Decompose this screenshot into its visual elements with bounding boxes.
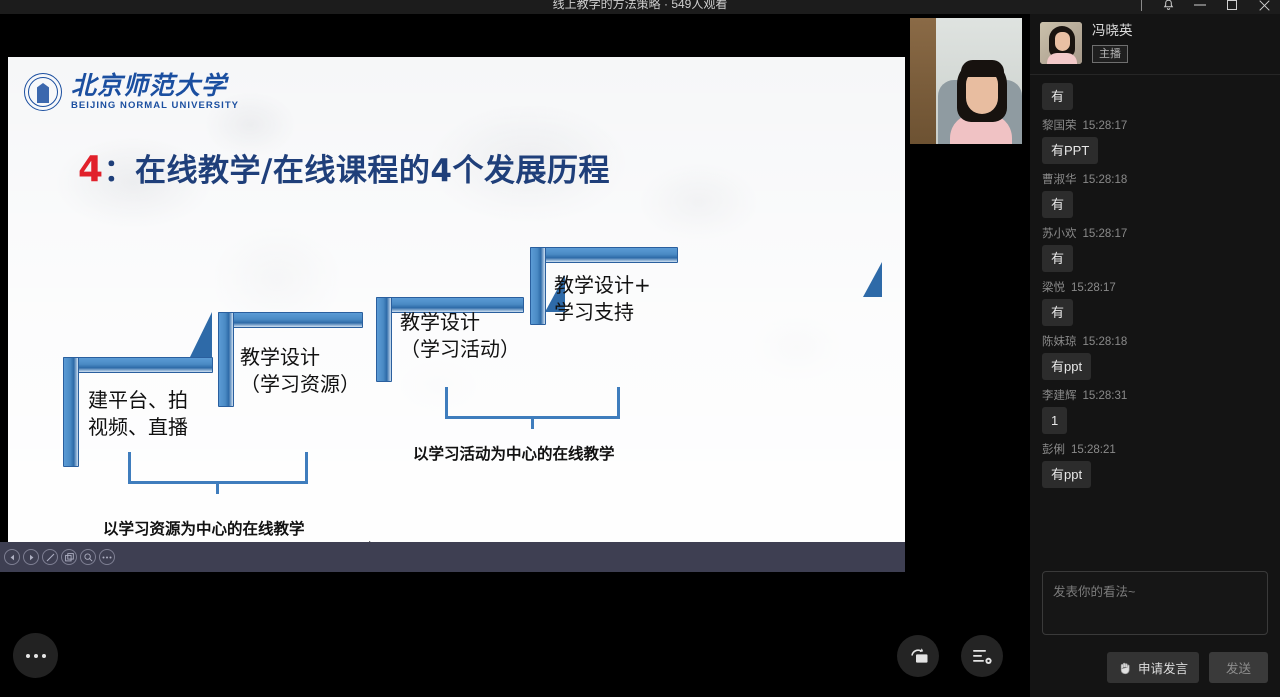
logo-text-en: BEIJING NORMAL UNIVERSITY bbox=[71, 101, 239, 111]
chat-message-text: 有 bbox=[1042, 83, 1073, 110]
chat-message-meta: 彭俐15:28:21 bbox=[1042, 441, 1268, 457]
chat-message-meta: 梁悦15:28:17 bbox=[1042, 279, 1268, 295]
chat-message: 黎国荣15:28:17有PPT bbox=[1042, 117, 1268, 164]
chat-message-list[interactable]: 有黎国荣15:28:17有PPT曹淑华15:28:18有苏小欢15:28:17有… bbox=[1030, 75, 1280, 561]
chat-message-meta: 苏小欢15:28:17 bbox=[1042, 225, 1268, 241]
pen-icon[interactable] bbox=[42, 549, 58, 565]
chat-message-text: 有PPT bbox=[1042, 137, 1098, 164]
brace-left bbox=[128, 452, 308, 492]
chat-message: 陈妹琼15:28:18有ppt bbox=[1042, 333, 1268, 380]
chat-message-text: 有ppt bbox=[1042, 461, 1091, 488]
stage-arrow-3 bbox=[863, 262, 882, 297]
stage-label-4: 教学设计+ 学习支持 bbox=[554, 272, 724, 326]
chat-message-time: 15:28:18 bbox=[1083, 174, 1128, 186]
slide-toolbar[interactable] bbox=[0, 542, 905, 572]
presenter-header: 冯晓英 主播 bbox=[1030, 14, 1280, 75]
chat-message-time: 15:28:31 bbox=[1083, 390, 1128, 402]
logo-text-cn: 北京师范大学 bbox=[71, 73, 239, 98]
chat-message: 李建辉15:28:311 bbox=[1042, 387, 1268, 434]
chat-message-text: 有 bbox=[1042, 245, 1073, 272]
send-button[interactable]: 发送 bbox=[1209, 652, 1268, 683]
dot bbox=[34, 654, 38, 658]
chat-message: 梁悦15:28:17有 bbox=[1042, 279, 1268, 326]
caption-right: 以学习活动为中心的在线教学 bbox=[413, 442, 615, 464]
chat-message-time: 15:28:18 bbox=[1083, 336, 1128, 348]
chat-message-sender: 陈妹琼 bbox=[1042, 336, 1077, 348]
dot bbox=[42, 654, 46, 658]
chat-message: 有 bbox=[1042, 83, 1268, 110]
pages-icon[interactable] bbox=[61, 549, 77, 565]
next-slide-icon[interactable] bbox=[23, 549, 39, 565]
presenter-avatar[interactable] bbox=[1040, 22, 1082, 64]
caption-left: 以学习资源为中心的在线教学 bbox=[103, 517, 305, 539]
chat-message-meta: 曹淑华15:28:18 bbox=[1042, 171, 1268, 187]
presentation-slide: 北京师范大学 BEIJING NORMAL UNIVERSITY 4：在线教学/… bbox=[8, 57, 905, 542]
app-window: 线上教学的方法策略 · 549人观看 bbox=[0, 0, 1280, 697]
chat-message-sender: 梁悦 bbox=[1042, 282, 1065, 294]
university-logo: 北京师范大学 BEIJING NORMAL UNIVERSITY bbox=[24, 73, 239, 111]
chat-message-time: 15:28:17 bbox=[1083, 120, 1128, 132]
slide-more-options-icon[interactable] bbox=[99, 549, 115, 565]
request-to-speak-label: 申请发言 bbox=[1138, 658, 1188, 677]
cast-screen-icon bbox=[908, 647, 929, 666]
chat-message: 彭俐15:28:21有ppt bbox=[1042, 441, 1268, 488]
chat-message-time: 15:28:21 bbox=[1071, 444, 1116, 456]
window-titlebar: 线上教学的方法策略 · 549人观看 bbox=[0, 0, 1280, 14]
presenter-webcam[interactable] bbox=[910, 18, 1022, 144]
chat-message-meta: 李建辉15:28:31 bbox=[1042, 387, 1268, 403]
chat-message-text: 有 bbox=[1042, 299, 1073, 326]
stage-arrow-1 bbox=[190, 312, 212, 357]
window-title: 线上教学的方法策略 · 549人观看 bbox=[553, 0, 728, 10]
chat-message-meta: 黎国荣15:28:17 bbox=[1042, 117, 1268, 133]
chat-message-sender: 彭俐 bbox=[1042, 444, 1065, 456]
chat-compose-area bbox=[1030, 561, 1280, 640]
stage-label-1: 建平台、拍 视频、直播 bbox=[88, 387, 228, 441]
chat-message-meta: 陈妹琼15:28:18 bbox=[1042, 333, 1268, 349]
chat-message-sender: 曹淑华 bbox=[1042, 174, 1077, 186]
slide-title: 4：在线教学/在线课程的4个发展历程 bbox=[78, 145, 610, 190]
chat-input[interactable] bbox=[1042, 571, 1268, 635]
presenter-badge: 主播 bbox=[1092, 45, 1128, 63]
video-stage[interactable]: 北京师范大学 BEIJING NORMAL UNIVERSITY 4：在线教学/… bbox=[0, 14, 1030, 697]
request-to-speak-button[interactable]: 申请发言 bbox=[1107, 652, 1199, 683]
zoom-icon[interactable] bbox=[80, 549, 96, 565]
mouse-cursor-icon bbox=[369, 541, 380, 542]
slide-title-number: 4 bbox=[78, 149, 104, 190]
titlebar-divider bbox=[1141, 0, 1142, 11]
chat-message-sender: 李建辉 bbox=[1042, 390, 1077, 402]
close-button[interactable] bbox=[1248, 0, 1280, 12]
chat-message-sender: 黎国荣 bbox=[1042, 120, 1077, 132]
chat-message-time: 15:28:17 bbox=[1071, 282, 1116, 294]
chat-message-sender: 苏小欢 bbox=[1042, 228, 1077, 240]
presenter-name: 冯晓英 bbox=[1092, 22, 1133, 39]
university-seal-icon bbox=[24, 73, 62, 111]
chat-panel: 冯晓英 主播 有黎国荣15:28:17有PPT曹淑华15:28:18有苏小欢15… bbox=[1030, 14, 1280, 697]
raise-hand-icon bbox=[1118, 661, 1132, 675]
cast-screen-button[interactable] bbox=[897, 635, 939, 677]
chat-message: 曹淑华15:28:18有 bbox=[1042, 171, 1268, 218]
maximize-button[interactable] bbox=[1216, 0, 1248, 12]
chat-action-bar: 申请发言 发送 bbox=[1030, 640, 1280, 697]
dot bbox=[26, 654, 30, 658]
player-more-button[interactable] bbox=[13, 633, 58, 678]
prev-slide-icon[interactable] bbox=[4, 549, 20, 565]
window-controls bbox=[1141, 0, 1280, 14]
chat-message-text: 有 bbox=[1042, 191, 1073, 218]
pin-icon[interactable] bbox=[1152, 0, 1184, 12]
chat-message-text: 1 bbox=[1042, 407, 1067, 434]
chat-message-text: 有ppt bbox=[1042, 353, 1091, 380]
quality-settings-button[interactable] bbox=[961, 635, 1003, 677]
slide-title-text: ：在线教学/在线课程的4个发展历程 bbox=[104, 153, 610, 189]
chat-message: 苏小欢15:28:17有 bbox=[1042, 225, 1268, 272]
chat-message-time: 15:28:17 bbox=[1083, 228, 1128, 240]
quality-list-icon bbox=[972, 648, 993, 664]
minimize-button[interactable] bbox=[1184, 0, 1216, 12]
brace-right bbox=[445, 387, 620, 427]
